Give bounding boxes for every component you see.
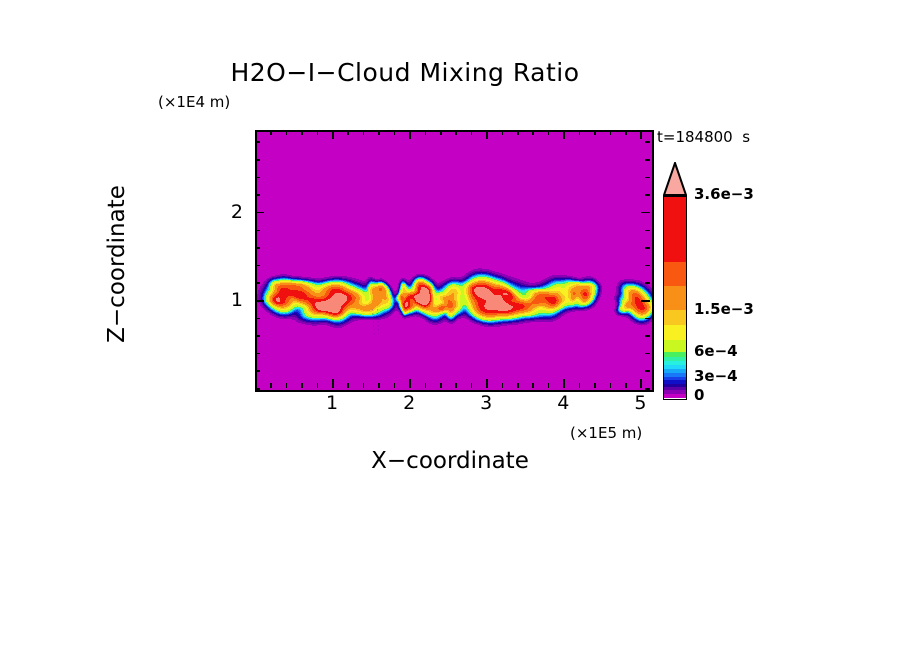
colorbar-tick-label: 3.6e−3 [694, 185, 754, 203]
colorbar-band [664, 286, 686, 310]
tick-mark [255, 353, 260, 355]
tick-mark [255, 177, 260, 179]
tick-mark [332, 130, 334, 139]
tick-mark [378, 130, 380, 135]
tick-mark [347, 130, 349, 135]
tick-mark [625, 383, 627, 388]
tick-mark [579, 130, 581, 135]
colorbar-tick-label: 3e−4 [694, 367, 738, 385]
colorbar-band [664, 394, 686, 398]
tick-mark [286, 383, 288, 388]
tick-mark [255, 130, 257, 135]
tick-mark [255, 370, 260, 372]
x-tick-label: 4 [557, 392, 569, 414]
y-tick-label: 2 [213, 201, 243, 223]
tick-mark [255, 194, 260, 196]
colorbar-bands [663, 196, 687, 400]
tick-mark [455, 130, 457, 135]
tick-mark [532, 383, 534, 388]
tick-mark [610, 130, 612, 135]
y-tick-label: 1 [213, 289, 243, 311]
tick-mark [502, 130, 504, 135]
plot-area [255, 130, 654, 392]
tick-mark [532, 130, 534, 135]
tick-mark [455, 383, 457, 388]
tick-mark [579, 383, 581, 388]
tick-mark [270, 130, 272, 135]
tick-mark [255, 388, 260, 390]
tick-mark [255, 335, 260, 337]
colorbar-band [664, 310, 686, 325]
tick-mark [394, 383, 396, 388]
tick-mark [255, 265, 260, 267]
tick-mark [486, 379, 488, 388]
page-title: H2O−I−Cloud Mixing Ratio [0, 58, 857, 87]
tick-mark [425, 130, 427, 135]
tick-mark [641, 300, 650, 302]
tick-mark [347, 383, 349, 388]
tick-mark [645, 353, 650, 355]
tick-mark [255, 300, 264, 302]
x-axis-title: X−coordinate [0, 448, 902, 474]
tick-mark [471, 130, 473, 135]
figure-root: H2O−I−Cloud Mixing Ratio (×1E4 m) (×1E5 … [0, 0, 904, 654]
tick-mark [645, 194, 650, 196]
x-tick-label: 1 [326, 392, 338, 414]
tick-mark [440, 130, 442, 135]
tick-mark [640, 379, 642, 388]
colorbar-band [664, 197, 686, 262]
tick-mark [425, 383, 427, 388]
tick-mark [486, 130, 488, 139]
tick-mark [594, 130, 596, 135]
tick-mark [363, 383, 365, 388]
tick-mark [645, 247, 650, 249]
tick-mark [517, 383, 519, 388]
tick-mark [255, 159, 260, 161]
tick-mark [645, 177, 650, 179]
tick-mark [317, 130, 319, 135]
tick-mark [594, 383, 596, 388]
timestamp-label: t=184800 s [657, 128, 750, 146]
tick-mark [640, 130, 642, 139]
tick-mark [563, 130, 565, 139]
tick-mark [645, 282, 650, 284]
tick-mark [563, 379, 565, 388]
colorbar-band [664, 262, 686, 286]
tick-mark [270, 383, 272, 388]
tick-mark [317, 383, 319, 388]
tick-mark [548, 130, 550, 135]
tick-mark [645, 141, 650, 143]
colorbar-band [664, 325, 686, 339]
x-axis-units-label: (×1E5 m) [570, 424, 642, 442]
tick-mark [378, 383, 380, 388]
colorbar-band [664, 340, 686, 352]
tick-mark [641, 212, 650, 214]
tick-mark [502, 383, 504, 388]
tick-mark [409, 130, 411, 139]
tick-mark [394, 130, 396, 135]
tick-mark [471, 383, 473, 388]
tick-mark [286, 130, 288, 135]
tick-mark [625, 130, 627, 135]
colorbar-tick-label: 0 [694, 386, 704, 404]
tick-mark [301, 383, 303, 388]
tick-mark [645, 318, 650, 320]
tick-mark [645, 230, 650, 232]
tick-mark [645, 159, 650, 161]
tick-mark [301, 130, 303, 135]
tick-mark [255, 282, 260, 284]
colorbar-tick-label: 1.5e−3 [694, 300, 754, 318]
tick-mark [255, 230, 260, 232]
tick-mark [610, 383, 612, 388]
tick-mark [255, 247, 260, 249]
colorbar [663, 162, 687, 400]
tick-mark [548, 383, 550, 388]
tick-mark [645, 265, 650, 267]
y-axis-title: Z−coordinate [104, 134, 130, 394]
tick-mark [255, 318, 260, 320]
tick-mark [645, 335, 650, 337]
x-tick-label: 2 [403, 392, 415, 414]
tick-mark [645, 388, 650, 390]
tick-mark [645, 370, 650, 372]
tick-mark [255, 212, 264, 214]
tick-mark [332, 379, 334, 388]
tick-mark [440, 383, 442, 388]
tick-mark [409, 379, 411, 388]
colorbar-arrow-icon [663, 162, 687, 196]
y-axis-units-label: (×1E4 m) [158, 93, 230, 111]
tick-mark [363, 130, 365, 135]
x-tick-label: 3 [480, 392, 492, 414]
colorbar-tick-label: 6e−4 [694, 342, 738, 360]
tick-mark [517, 130, 519, 135]
tick-mark [255, 141, 260, 143]
contour-field [257, 132, 652, 390]
x-tick-label: 5 [634, 392, 646, 414]
